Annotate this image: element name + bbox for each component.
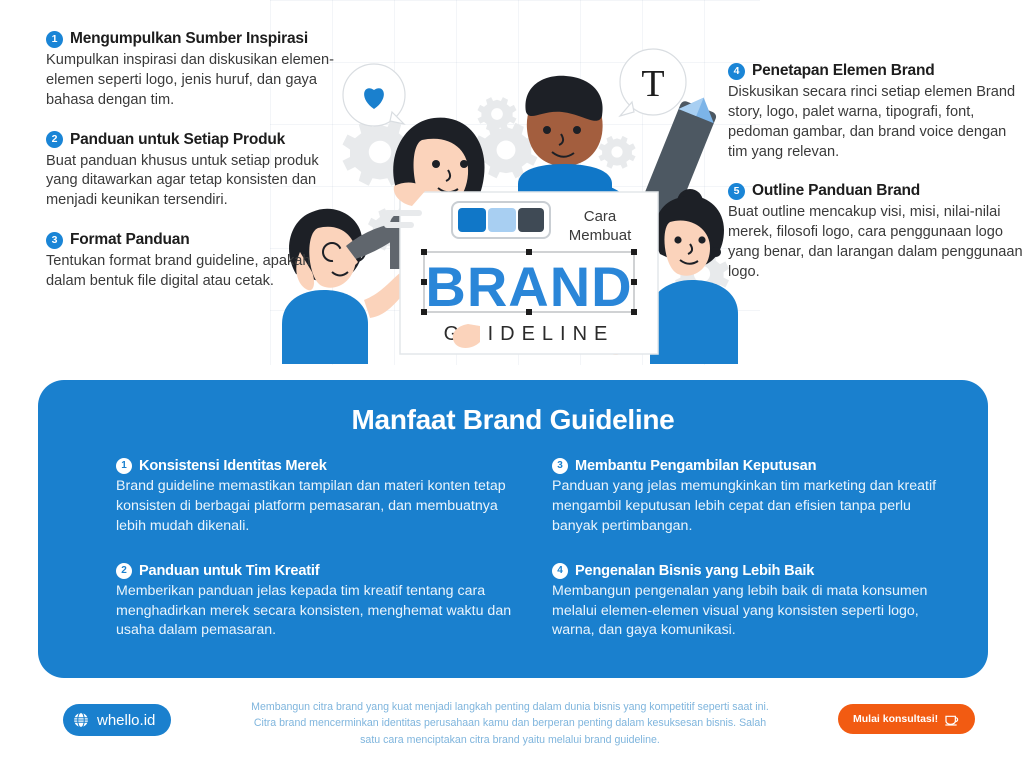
board-title: BRAND — [425, 255, 632, 318]
benefit-body: Membangun pengenalan yang lebih baik di … — [552, 582, 948, 642]
benefit-number-badge: 4 — [552, 563, 568, 579]
step-number-badge: 3 — [46, 232, 63, 249]
brand-guideline-board: Cara Membuat BRAND GUIDELINE — [384, 192, 658, 354]
step-body: Buat panduan khusus untuk setiap produk … — [46, 152, 346, 212]
steps-left-column: 1 Mengumpulkan Sumber Inspirasi Kumpulka… — [46, 30, 346, 312]
svg-text:T: T — [641, 63, 664, 105]
step-title: Panduan untuk Setiap Produk — [70, 131, 285, 149]
step-item-3: 3 Format Panduan Tentukan format brand g… — [46, 231, 346, 292]
step-title: Mengumpulkan Sumber Inspirasi — [70, 30, 308, 48]
step-header: 3 Format Panduan — [46, 231, 346, 249]
step-header: 1 Mengumpulkan Sumber Inspirasi — [46, 30, 346, 48]
step-item-4: 4 Penetapan Elemen Brand Diskusikan seca… — [728, 62, 1025, 162]
heart-bubble — [343, 64, 405, 126]
step-header: 2 Panduan untuk Setiap Produk — [46, 131, 346, 149]
step-number-badge: 2 — [46, 131, 63, 148]
step-item-1: 1 Mengumpulkan Sumber Inspirasi Kumpulka… — [46, 30, 346, 111]
step-number-badge: 5 — [728, 183, 745, 200]
globe-icon — [72, 711, 90, 729]
step-header: 5 Outline Panduan Brand — [728, 182, 1025, 200]
footer-paragraph: Membangun citra brand yang kuat menjadi … — [245, 699, 775, 748]
step-header: 4 Penetapan Elemen Brand — [728, 62, 1025, 80]
benefit-number-badge: 3 — [552, 458, 568, 474]
step-title: Format Panduan — [70, 231, 190, 249]
step-body: Diskusikan secara rinci setiap elemen Br… — [728, 83, 1025, 162]
cta-label: Mulai konsultasi! — [853, 713, 938, 725]
panel-title: Manfaat Brand Guideline — [38, 380, 988, 436]
typography-bubble: T — [620, 49, 686, 116]
benefit-title: Panduan untuk Tim Kreatif — [139, 563, 319, 579]
benefit-header: 2 Panduan untuk Tim Kreatif — [116, 563, 512, 579]
step-item-2: 2 Panduan untuk Setiap Produk Buat pandu… — [46, 131, 346, 212]
benefit-number-badge: 2 — [116, 563, 132, 579]
benefit-body: Memberikan panduan jelas kepada tim krea… — [116, 582, 512, 642]
step-title: Outline Panduan Brand — [752, 182, 920, 200]
benefit-body: Panduan yang jelas memungkinkan tim mark… — [552, 477, 948, 537]
step-number-badge: 1 — [46, 31, 63, 48]
logo-text: whello.id — [97, 712, 155, 729]
benefit-number-badge: 1 — [116, 458, 132, 474]
benefit-item-2: 2 Panduan untuk Tim Kreatif Memberikan p… — [116, 563, 512, 642]
whello-logo-badge[interactable]: whello.id — [63, 704, 171, 736]
steps-right-column: 4 Penetapan Elemen Brand Diskusikan seca… — [728, 62, 1025, 303]
step-title: Penetapan Elemen Brand — [752, 62, 935, 80]
coffee-cup-icon — [944, 712, 960, 726]
benefits-grid: 1 Konsistensi Identitas Merek Brand guid… — [116, 458, 948, 641]
board-eyebrow-line1: Cara — [584, 208, 617, 225]
step-body: Tentukan format brand guideline, apakah … — [46, 252, 346, 292]
step-body: Kumpulkan inspirasi dan diskusikan eleme… — [46, 51, 346, 111]
benefits-panel: Manfaat Brand Guideline 1 Konsistensi Id… — [38, 380, 988, 678]
benefit-body: Brand guideline memastikan tampilan dan … — [116, 477, 512, 537]
benefit-item-3: 3 Membantu Pengambilan Keputusan Panduan… — [552, 458, 948, 537]
step-item-5: 5 Outline Panduan Brand Buat outline men… — [728, 182, 1025, 282]
benefit-title: Membantu Pengambilan Keputusan — [575, 458, 816, 474]
board-eyebrow-line2: Membuat — [569, 227, 632, 244]
step-number-badge: 4 — [728, 63, 745, 80]
start-consultation-button[interactable]: Mulai konsultasi! — [838, 704, 975, 734]
benefit-header: 4 Pengenalan Bisnis yang Lebih Baik — [552, 563, 948, 579]
benefit-title: Pengenalan Bisnis yang Lebih Baik — [575, 563, 814, 579]
benefit-header: 1 Konsistensi Identitas Merek — [116, 458, 512, 474]
benefit-title: Konsistensi Identitas Merek — [139, 458, 327, 474]
benefit-item-4: 4 Pengenalan Bisnis yang Lebih Baik Memb… — [552, 563, 948, 642]
step-body: Buat outline mencakup visi, misi, nilai-… — [728, 203, 1025, 282]
benefit-item-1: 1 Konsistensi Identitas Merek Brand guid… — [116, 458, 512, 537]
benefit-header: 3 Membantu Pengambilan Keputusan — [552, 458, 948, 474]
